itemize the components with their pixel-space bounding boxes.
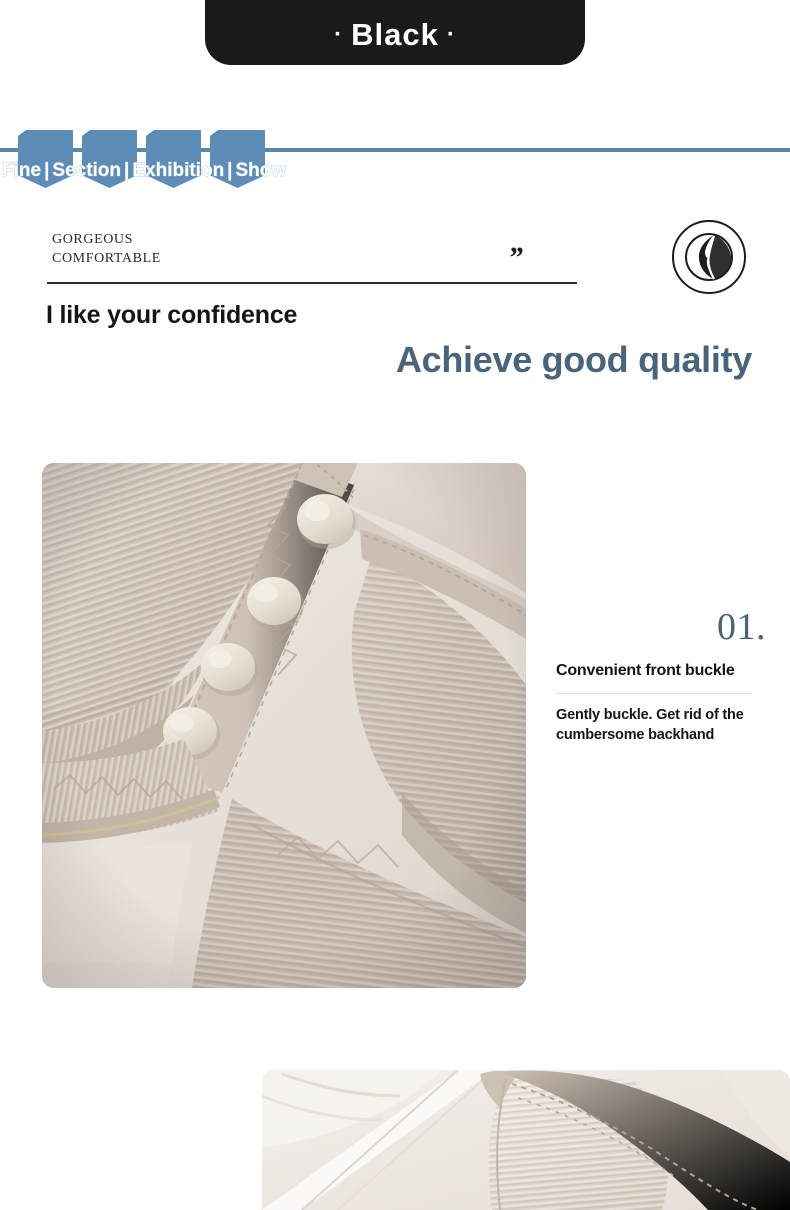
banner-dot-right: · [439, 21, 464, 48]
tag-separator-2: | [121, 160, 132, 181]
brand-circle-logo-icon [670, 218, 748, 296]
tag-strip: Fine|Section|Exhibition|Show [0, 130, 790, 192]
tag-label-exhibition: Exhibition [132, 160, 224, 181]
tag-label-show: Show [236, 160, 287, 181]
tag-strip-labels: Fine|Section|Exhibition|Show [2, 160, 286, 182]
product-photo-front-buckle[interactable] [42, 463, 526, 988]
tag-label-fine: Fine [2, 160, 41, 181]
color-banner-label: ·Black· [326, 17, 464, 53]
header-kicker: GORGEOUS COMFORTABLE [52, 230, 161, 268]
feature-body: Gently buckle. Get rid of the cumbersome… [556, 705, 766, 745]
banner-dot-left: · [326, 21, 351, 48]
product-photo-cup-detail[interactable] [262, 1070, 790, 1210]
feature-divider [556, 693, 752, 694]
tag-separator-3: | [224, 160, 235, 181]
headline-secondary: Achieve good quality [396, 339, 752, 381]
tag-separator-1: | [41, 160, 52, 181]
feature-block-01: 01. Convenient front buckle Gently buckl… [556, 608, 766, 745]
headline-primary: I like your confidence [46, 301, 297, 330]
quote-mark-icon: ” [508, 243, 523, 273]
color-banner: ·Black· [205, 0, 585, 65]
tag-label-section: Section [52, 160, 121, 181]
header-kicker-line2: COMFORTABLE [52, 249, 161, 268]
feature-title: Convenient front buckle [556, 660, 766, 681]
feature-number: 01. [556, 608, 766, 646]
header-divider [47, 282, 577, 284]
header-kicker-line1: GORGEOUS [52, 230, 161, 249]
banner-color-name: Black [351, 17, 439, 52]
